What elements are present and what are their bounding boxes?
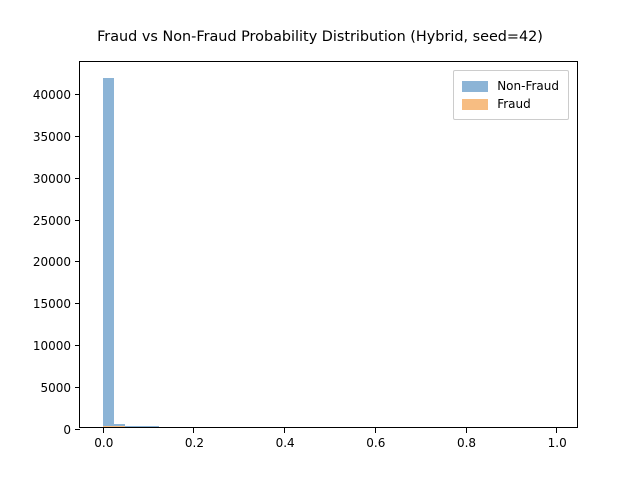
x-axis-tick: 0.4 [284,427,285,433]
y-axis-tick-label: 40000 [33,86,71,104]
legend-item-non-fraud[interactable]: Non-Fraud [462,77,559,95]
y-axis-tick: 20000 [75,261,81,262]
histogram-bar [114,426,125,427]
legend-item-label: Fraud [497,95,531,113]
y-axis-tick-label: 20000 [33,253,71,271]
y-axis-tick: 0 [75,429,81,430]
y-axis-tick-label: 35000 [33,128,71,146]
y-axis-tick: 30000 [75,178,81,179]
x-axis-tick: 0.6 [375,427,376,433]
x-axis-tick-label: 1.0 [548,434,567,452]
x-axis-tick: 0.2 [193,427,194,433]
legend-swatch-icon [462,81,488,92]
x-axis-tick: 0.0 [103,427,104,433]
matplotlib-figure: Fraud vs Non-Fraud Probability Distribut… [0,0,640,480]
x-axis-tick: 1.0 [556,427,557,433]
histogram-bar [103,78,114,427]
y-axis-tick-label: 5000 [40,379,71,397]
y-axis-tick: 35000 [75,136,81,137]
histogram-bar [125,426,136,427]
legend-item-fraud[interactable]: Fraud [462,95,559,113]
histogram-bar [148,426,159,427]
x-axis-tick-label: 0.0 [94,434,113,452]
y-axis-tick: 5000 [75,387,81,388]
y-axis-tick-label: 15000 [33,295,71,313]
y-axis-tick-label: 30000 [33,170,71,188]
chart-axes: 0500010000150002000025000300003500040000… [79,61,578,428]
y-axis-tick-label: 10000 [33,337,71,355]
x-axis-tick-label: 0.6 [366,434,385,452]
y-axis-tick-label: 0 [63,421,71,439]
y-axis-tick: 10000 [75,345,81,346]
legend-swatch-icon [462,99,488,110]
chart-legend[interactable]: Non-FraudFraud [453,70,569,120]
x-axis-tick-label: 0.2 [185,434,204,452]
x-axis-tick-label: 0.4 [276,434,295,452]
y-axis-tick: 15000 [75,303,81,304]
page-title: Fraud vs Non-Fraud Probability Distribut… [0,28,640,46]
x-axis-tick-label: 0.8 [457,434,476,452]
legend-item-label: Non-Fraud [497,77,559,95]
x-axis-tick: 0.8 [466,427,467,433]
histogram-bar [137,426,148,427]
histogram-bar [103,426,114,427]
y-axis-tick: 25000 [75,220,81,221]
y-axis-tick: 40000 [75,94,81,95]
y-axis-tick-label: 25000 [33,212,71,230]
